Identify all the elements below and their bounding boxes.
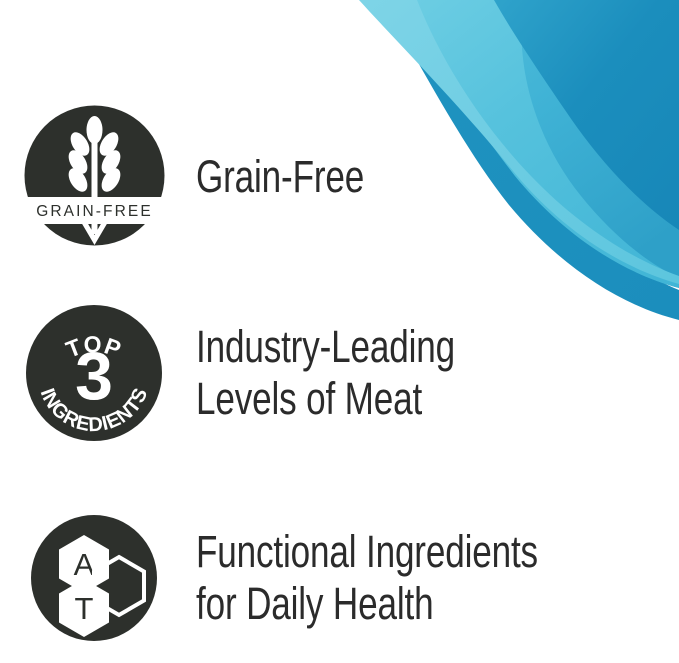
top-3-badge-number: 3 <box>75 338 113 414</box>
badge-hexagons-wrap: A T <box>0 513 188 643</box>
feature-text-grain-free: Grain-Free <box>196 151 364 203</box>
functional-ingredients-hexagons-icon: A T <box>29 513 159 643</box>
grain-free-badge-label: GRAIN-FREE <box>36 203 153 220</box>
feature-row-top-3-ingredients: TOP 3 INGREDIENTS Industry-Leading Level… <box>0 303 679 443</box>
grain-free-badge-icon: GRAIN-FREE <box>23 104 166 247</box>
feature-text-functional-ingredients: Functional Ingredients for Daily Health <box>196 526 538 630</box>
feature-highlights-panel: GRAIN-FREE Grain-Free TOP 3 ING <box>0 0 679 663</box>
feature-text-industry-leading: Industry-Leading Levels of Meat <box>196 321 455 425</box>
feature-row-grain-free: GRAIN-FREE Grain-Free <box>0 104 679 247</box>
feature-row-functional-ingredients: A T Functional Ingredients for Daily Hea… <box>0 513 679 643</box>
badge-top-3-wrap: TOP 3 INGREDIENTS <box>0 303 188 443</box>
top-3-ingredients-badge-icon: TOP 3 INGREDIENTS <box>24 303 164 443</box>
hexagon-t-letter: T <box>75 591 94 626</box>
hexagon-a-letter: A <box>74 547 95 582</box>
badge-grain-free-wrap: GRAIN-FREE <box>0 104 188 247</box>
